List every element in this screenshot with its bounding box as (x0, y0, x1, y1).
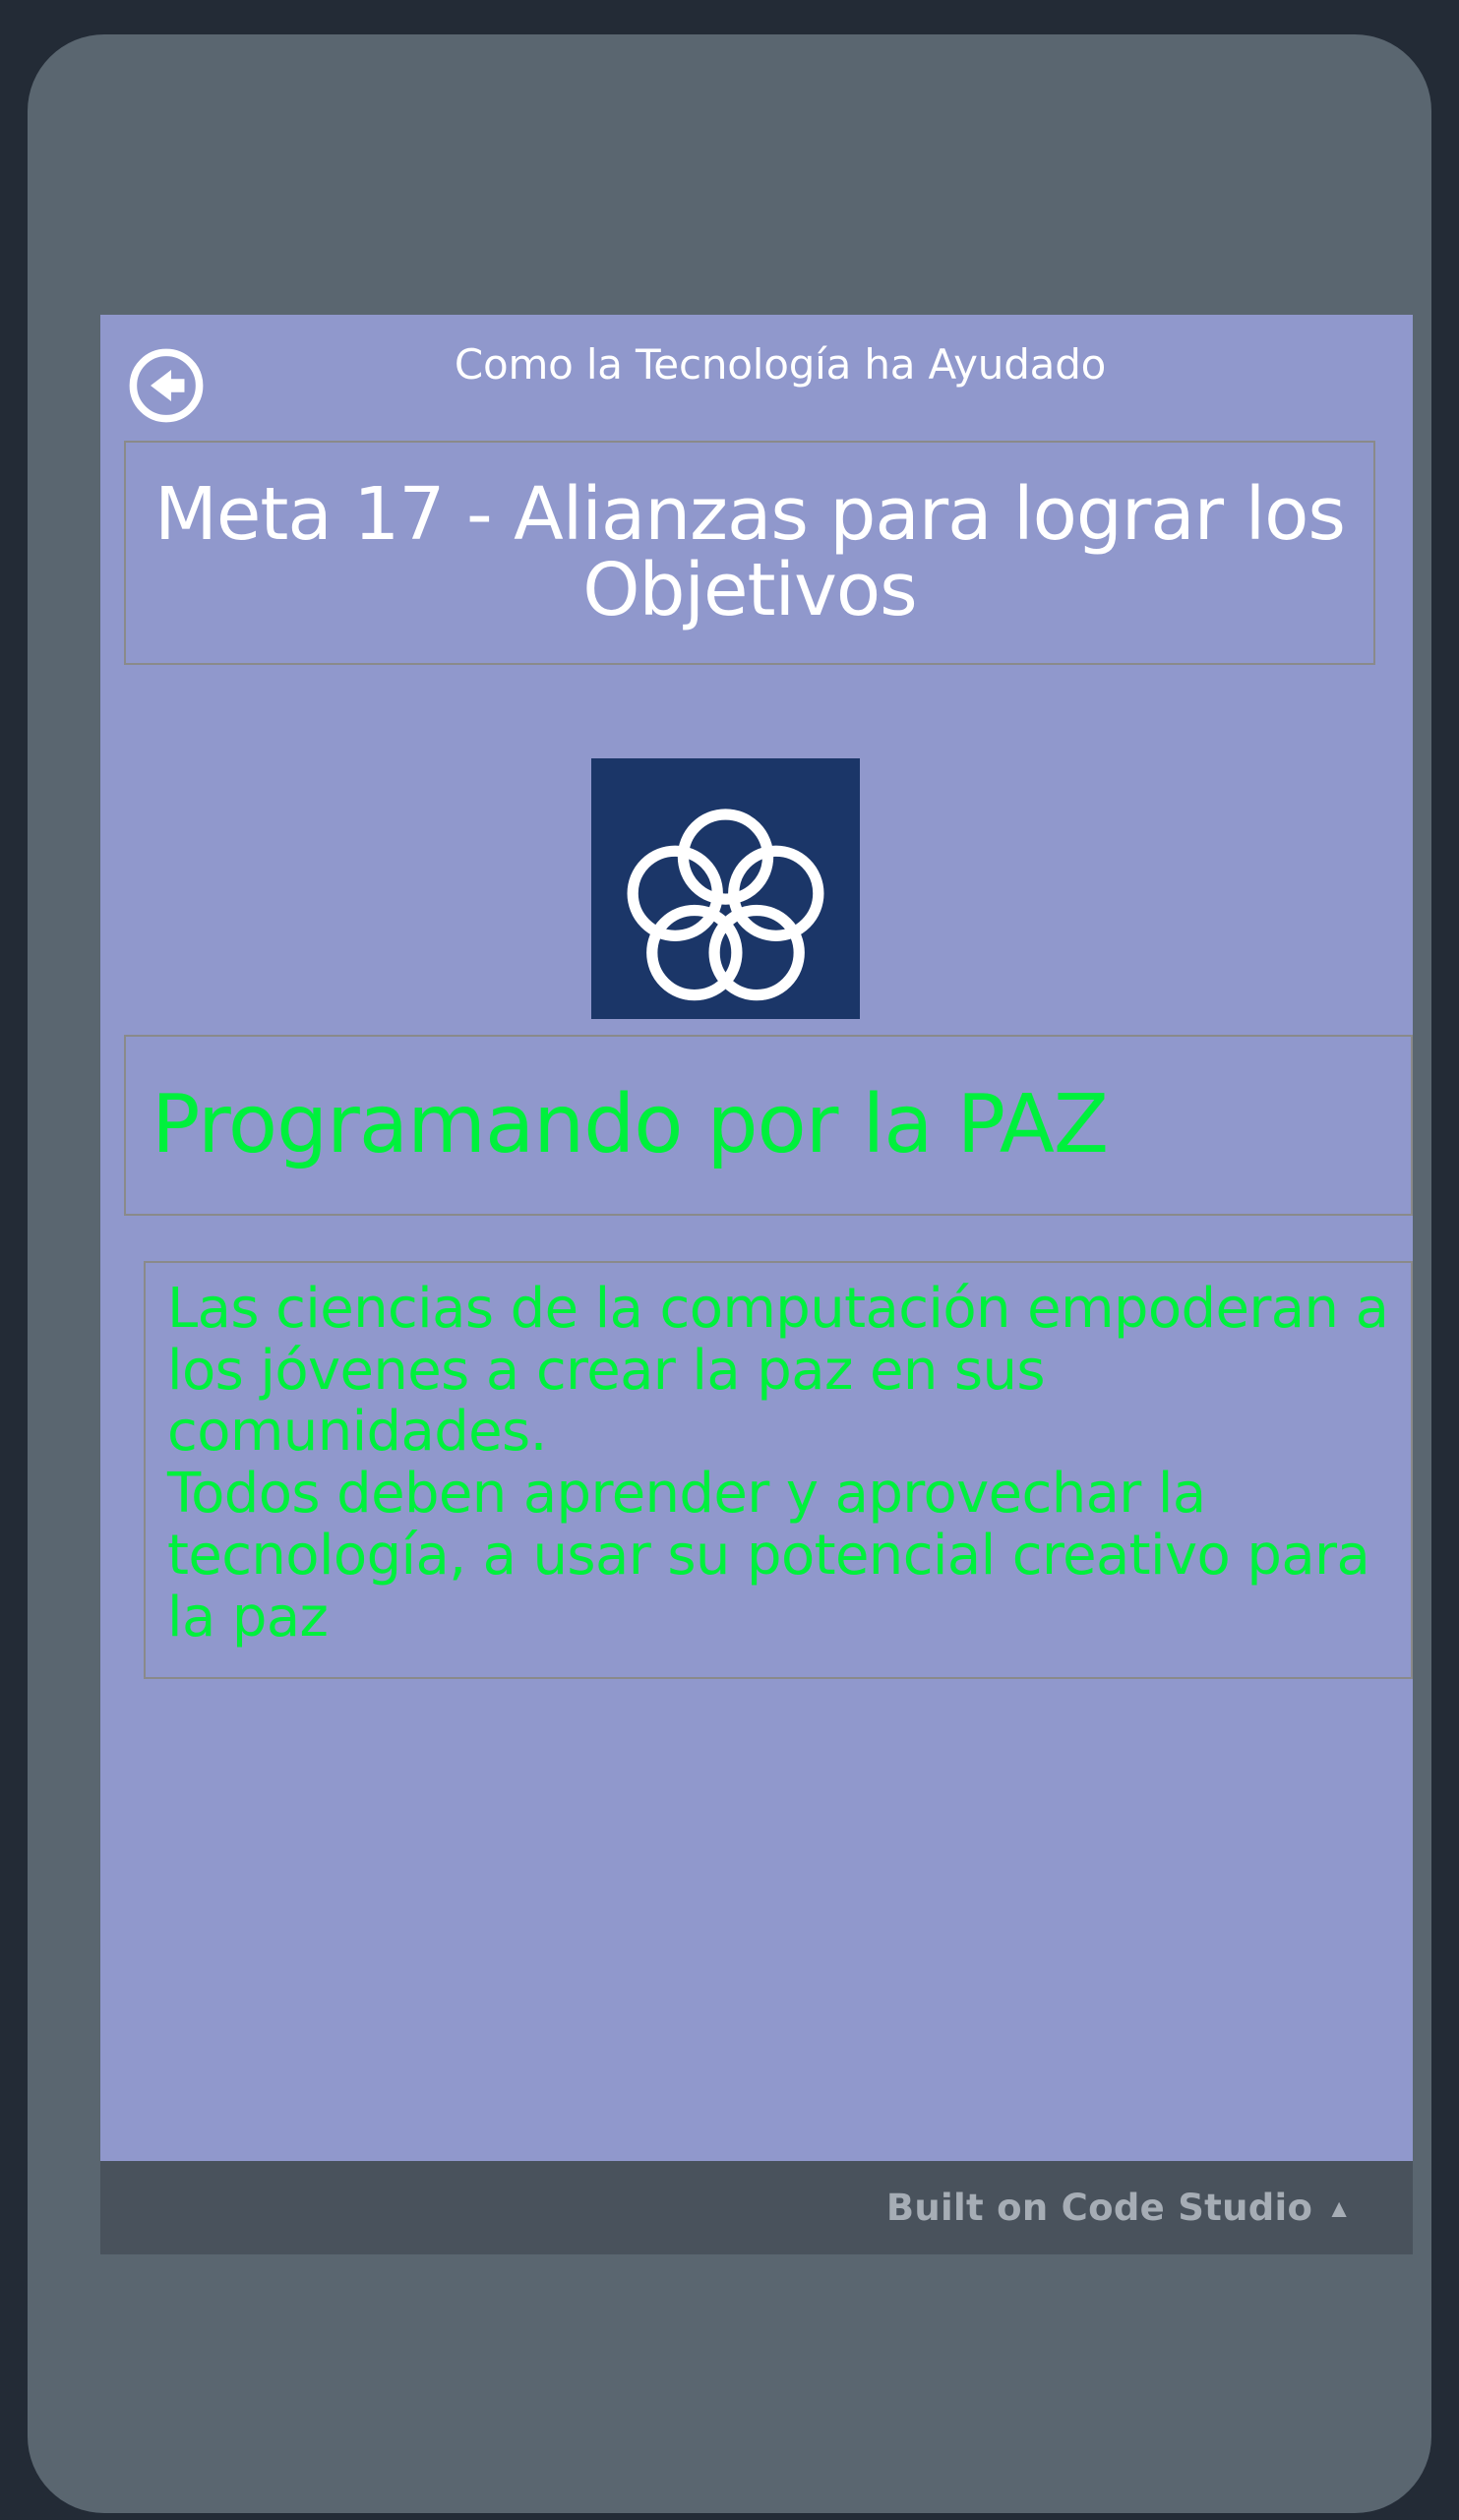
built-on-code-studio-label: Built on Code Studio (886, 2187, 1312, 2229)
caret-up-icon[interactable]: ▲ (1326, 2195, 1352, 2221)
page-title: Como la Tecnología ha Ayudado (100, 340, 1413, 389)
device-frame: Como la Tecnología ha Ayudado Meta 17 - … (28, 34, 1431, 2513)
slogan-text: Programando por la PAZ (126, 1085, 1108, 1166)
app-header: Como la Tecnología ha Ayudado (100, 315, 1413, 441)
sdg-goal-17-partnerships-icon (591, 758, 860, 1019)
body-text-box: Las ciencias de la computación empoderan… (144, 1261, 1413, 1679)
app-screen: Como la Tecnología ha Ayudado Meta 17 - … (100, 315, 1413, 2161)
slogan-box: Programando por la PAZ (124, 1035, 1413, 1216)
goal-title-text: Meta 17 - Alianzas para lograr los Objet… (126, 477, 1373, 629)
app-footer: Built on Code Studio ▲ (100, 2161, 1413, 2254)
body-paragraph: Las ciencias de la computación empoderan… (167, 1279, 1389, 1649)
goal-title-box: Meta 17 - Alianzas para lograr los Objet… (124, 441, 1375, 665)
